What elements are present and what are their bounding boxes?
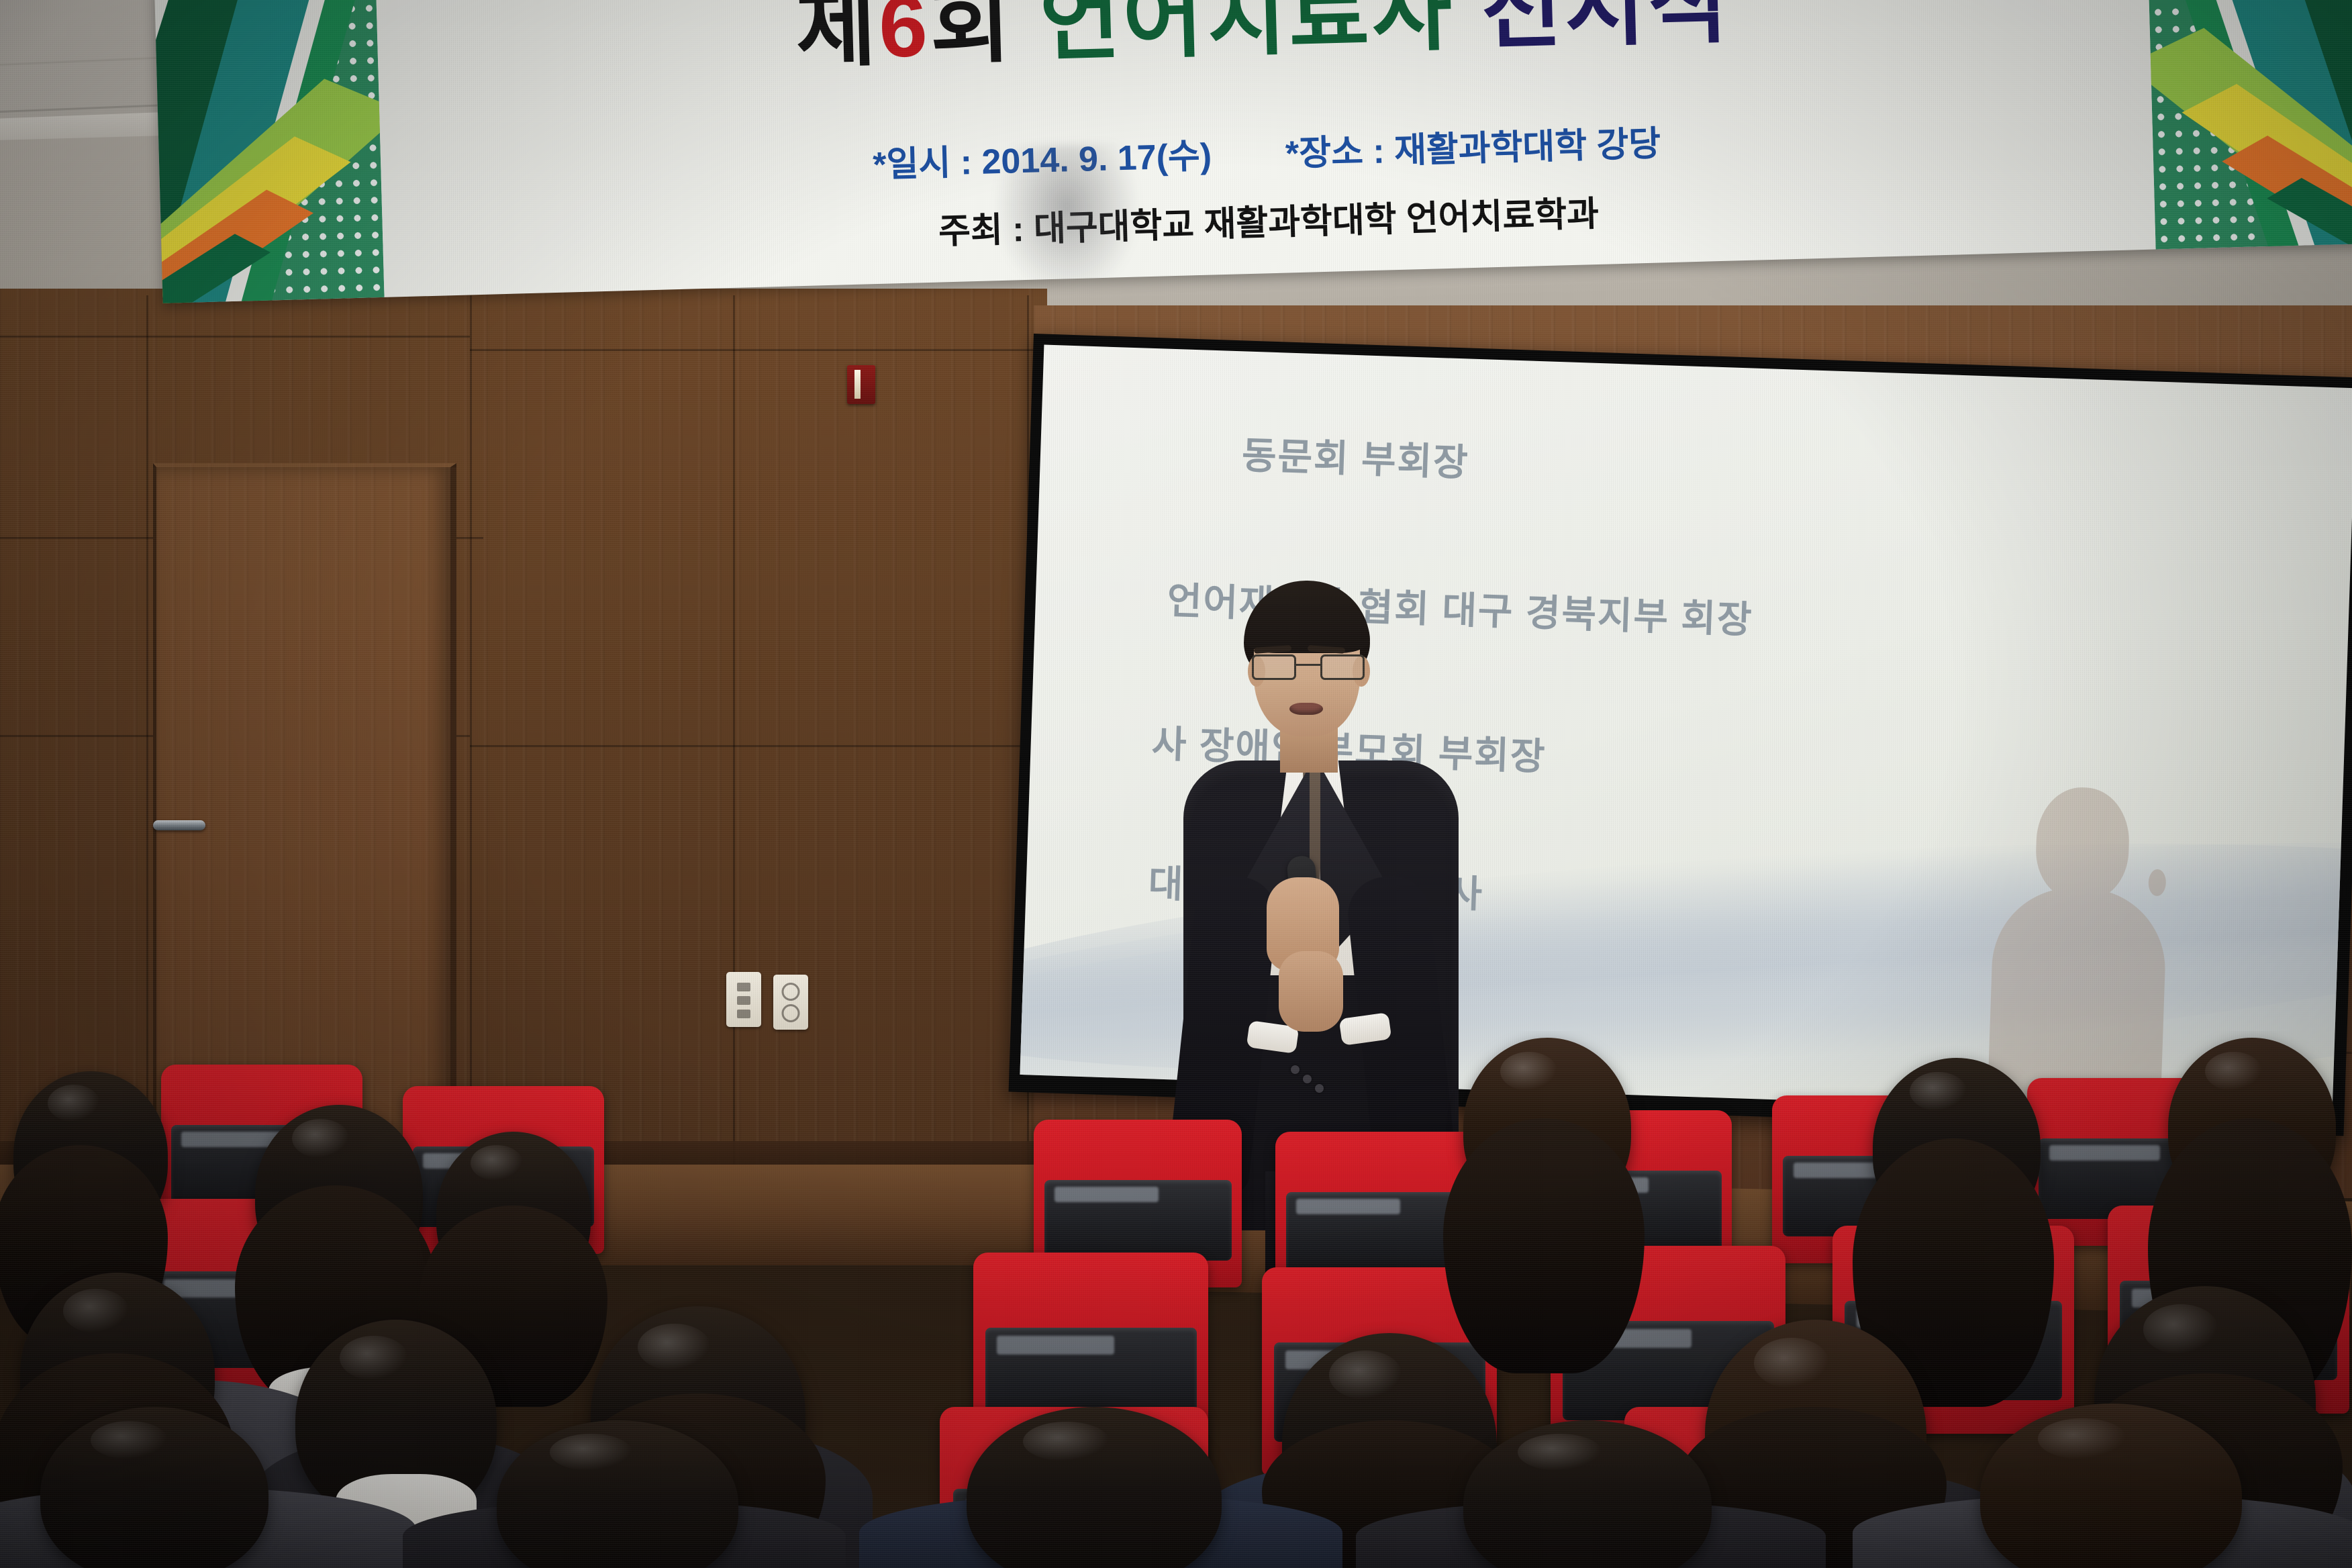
hair-highlight [1910, 1072, 1967, 1111]
hand-lower [1279, 951, 1343, 1032]
jack-slot [737, 983, 750, 991]
banner-cast-shadow [991, 142, 1143, 301]
eyeglasses [1249, 654, 1367, 681]
hair-highlight [1518, 1434, 1602, 1471]
jack-slot [737, 996, 750, 1005]
jack-slot [737, 1010, 750, 1018]
outlet-socket [782, 1004, 800, 1022]
door-handle[interactable] [153, 820, 205, 830]
hair-highlight [292, 1119, 349, 1158]
hair-highlight [2205, 1052, 2262, 1091]
hair-highlight [2143, 1304, 2218, 1355]
attendee-hair [1443, 1118, 1645, 1373]
fire-alarm-device [847, 365, 875, 404]
seat-highlight [997, 1336, 1114, 1355]
hair-highlight [1023, 1422, 1110, 1461]
banner-title-seg-3: 회 [929, 0, 1015, 75]
shadow-head [2035, 786, 2130, 901]
glasses-bridge [1296, 664, 1320, 666]
hair-highlight [1500, 1052, 1557, 1091]
seat-highlight [181, 1132, 282, 1147]
banner-title-seg-1: 제 [795, 0, 881, 78]
auditorium-scene: 제6회 언어치료사 선서식 *일시 : 2014. 9. 17(수)*장소 : … [0, 0, 2352, 1568]
banner-place-line: *장소 : 재활과학대학 강당 [1285, 124, 1661, 173]
shadow-ear [2148, 869, 2166, 897]
lens-right [1320, 654, 1365, 680]
outlet-socket [782, 983, 800, 1001]
data-jack-plate [726, 972, 761, 1027]
banner-title-seg-5: 선서식 [1480, 0, 1732, 60]
hair-highlight [550, 1434, 632, 1471]
mouth [1289, 703, 1323, 715]
hair-highlight [2038, 1418, 2127, 1459]
seat-highlight [2049, 1145, 2160, 1161]
hair-highlight [91, 1421, 168, 1459]
banner-title-seg-2: 6 [877, 0, 931, 76]
hair-fringe [1245, 601, 1370, 653]
slide-text-line-1: 동문회 부회장 [1241, 425, 1470, 487]
power-outlet-plate [773, 975, 808, 1030]
lens-left [1252, 654, 1296, 680]
hair-highlight [63, 1289, 130, 1333]
hair-highlight [1754, 1338, 1829, 1388]
hair-highlight [48, 1085, 100, 1122]
hair-highlight [1329, 1351, 1402, 1400]
seat-highlight [1055, 1187, 1159, 1202]
wall-panel-seam [470, 349, 1061, 351]
hair-highlight [340, 1336, 408, 1380]
wall-panel-seam [470, 745, 1061, 747]
audience-area [0, 1031, 2352, 1568]
hair-highlight [471, 1145, 523, 1181]
wall-panel-seam [0, 336, 470, 338]
hair-highlight [638, 1324, 711, 1371]
banner-title-seg-4: 언어치료사 [1012, 0, 1483, 72]
banner-title: 제6회 언어치료사 선서식 [155, 0, 2352, 90]
seat-highlight [1296, 1199, 1400, 1214]
